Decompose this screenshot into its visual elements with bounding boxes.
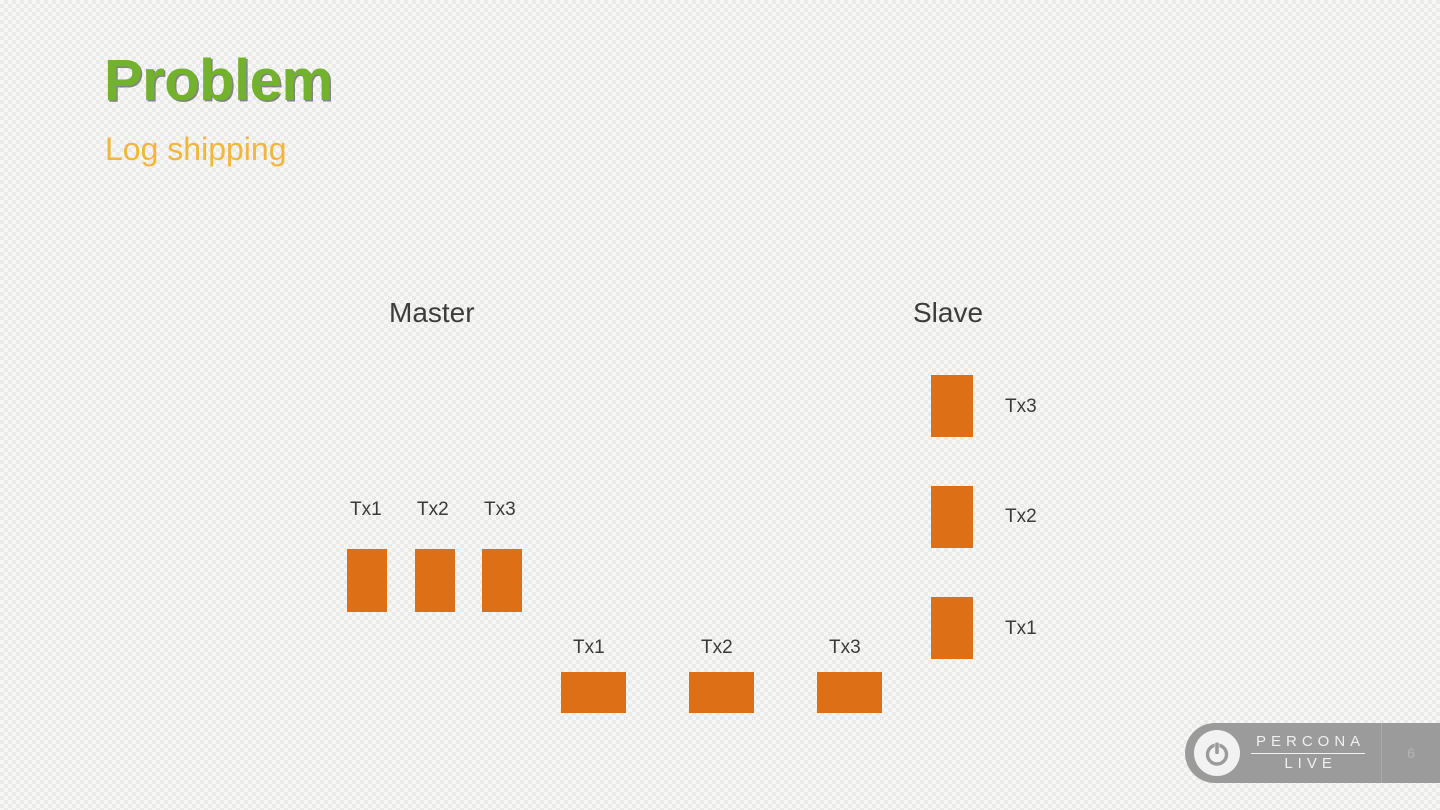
transaction-label: Tx3 bbox=[829, 638, 861, 657]
transaction-label: Tx2 bbox=[701, 638, 733, 657]
transaction-block bbox=[817, 672, 882, 713]
column-heading-slave: Slave bbox=[913, 299, 983, 327]
transaction-label: Tx1 bbox=[350, 500, 382, 519]
transaction-label: Tx2 bbox=[417, 500, 449, 519]
transaction-block bbox=[415, 549, 455, 612]
page-number: 6 bbox=[1381, 723, 1440, 783]
transaction-block bbox=[347, 549, 387, 612]
logo-brand-primary: PERCONA bbox=[1251, 734, 1365, 754]
transaction-block bbox=[931, 597, 973, 659]
transaction-label: Tx1 bbox=[573, 638, 605, 657]
log-shipping-diagram: MasterSlaveTx1Tx2Tx3Tx1Tx2Tx3Tx3Tx2Tx1 bbox=[0, 0, 1440, 810]
transaction-label: Tx3 bbox=[1005, 397, 1037, 416]
power-button-icon bbox=[1194, 730, 1240, 776]
logo-wordmark: PERCONA LIVE bbox=[1251, 734, 1365, 772]
transaction-block bbox=[482, 549, 522, 612]
column-heading-master: Master bbox=[389, 299, 475, 327]
transaction-block bbox=[931, 375, 973, 437]
logo-brand-secondary: LIVE bbox=[1279, 754, 1337, 773]
transaction-label: Tx2 bbox=[1005, 507, 1037, 526]
transaction-label: Tx3 bbox=[484, 500, 516, 519]
percona-live-logo: PERCONA LIVE 6 bbox=[1185, 723, 1440, 783]
transaction-label: Tx1 bbox=[1005, 619, 1037, 638]
transaction-block bbox=[931, 486, 973, 548]
transaction-block bbox=[561, 672, 626, 713]
transaction-block bbox=[689, 672, 754, 713]
